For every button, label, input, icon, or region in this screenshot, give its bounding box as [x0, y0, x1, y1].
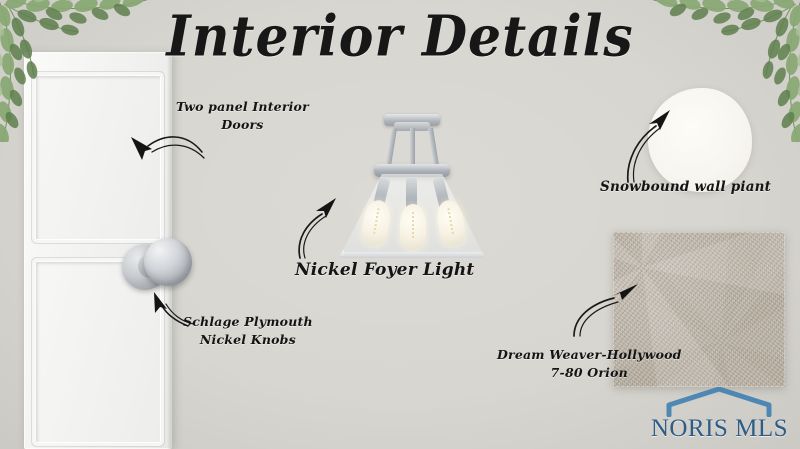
house-roof-icon — [661, 387, 777, 417]
label-schlage-plymouth-nickel-knobs: Schlage Plymouth Nickel Knobs — [183, 313, 313, 349]
edison-bulb — [400, 204, 426, 250]
label-two-panel-interior-doors: Two panel Interior Doors — [176, 98, 309, 134]
foyer-light-image — [332, 112, 492, 262]
interior-details-board: Interior Details — [0, 0, 800, 449]
label-snowbound-wall-paint: Snowbound wall piant — [600, 178, 771, 198]
paint-swatch — [648, 88, 752, 192]
label-line-1: Two panel Interior — [176, 98, 309, 116]
page-title: Interior Details — [0, 4, 800, 70]
label-dream-weaver-hollywood: Dream Weaver-Hollywood 7-80 Orion — [497, 346, 682, 382]
label-line-1: Snowbound wall piant — [600, 178, 771, 198]
label-nickel-foyer-light: Nickel Foyer Light — [295, 258, 474, 283]
label-line-2: Doors — [176, 116, 309, 134]
noris-mls-wordmark: NORIS MLS — [651, 415, 788, 443]
label-line-1: Dream Weaver-Hollywood — [497, 346, 682, 364]
label-line-1: Schlage Plymouth — [183, 313, 313, 331]
label-line-2: Nickel Knobs — [183, 331, 313, 349]
door-knob-image — [122, 238, 192, 306]
label-line-1: Nickel Foyer Light — [295, 258, 474, 283]
knob-ball — [144, 238, 192, 286]
door-panel-top — [35, 75, 161, 240]
noris-mls-watermark: NORIS MLS — [651, 387, 788, 443]
label-line-2: 7-80 Orion — [497, 364, 682, 382]
